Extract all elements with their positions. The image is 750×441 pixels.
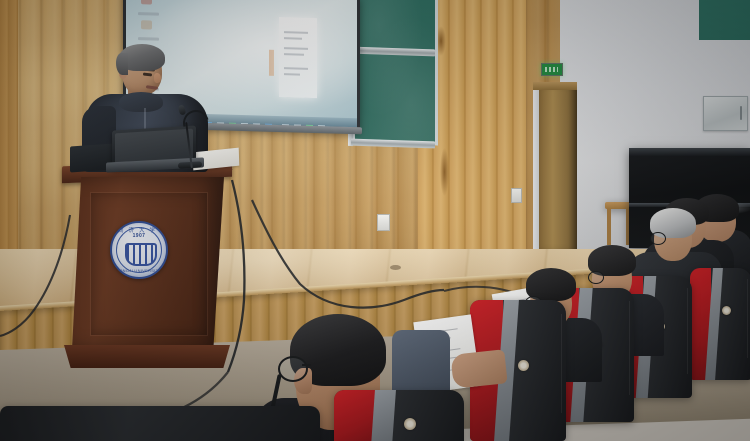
presenter-hair xyxy=(119,44,165,71)
screen-document-window xyxy=(279,17,317,98)
auditorium-seat-row-front[interactable] xyxy=(0,406,320,441)
seat-edge-highlight xyxy=(747,279,749,357)
seal-year: 1907 xyxy=(112,233,166,239)
seat-grey-panel xyxy=(371,390,396,441)
audience-hand xyxy=(450,349,507,388)
wall-access-panel-icon xyxy=(703,96,748,131)
audience-a1-glasses-bridge xyxy=(302,364,311,366)
wood-knot xyxy=(440,148,449,196)
auditorium-seat[interactable] xyxy=(334,390,464,441)
lectern-base xyxy=(64,345,230,368)
exit-sign-icon xyxy=(541,63,563,76)
wall-switch-plate xyxy=(511,188,522,203)
seat-emblem-icon xyxy=(722,306,731,315)
seat-edge-highlight xyxy=(687,288,689,373)
seal-english-text: TONGJI UNIVERSITY xyxy=(112,268,166,273)
auditorium-seat[interactable] xyxy=(690,268,750,380)
audience-a1-glasses-icon xyxy=(278,356,308,382)
access-panel-handle xyxy=(740,106,742,120)
door-lintel xyxy=(533,82,577,90)
exit-sign-text xyxy=(545,67,558,72)
lectern: 同济大学 1907 TONGJI UNIVERSITY xyxy=(64,163,230,368)
university-seal: 同济大学 1907 TONGJI UNIVERSITY xyxy=(110,221,168,279)
lecture-hall-photo: 同济大学 1907 TONGJI UNIVERSITY xyxy=(0,0,750,441)
presenter-nose xyxy=(154,73,161,83)
chalkboard-far-right xyxy=(699,0,750,40)
chalkboard xyxy=(352,0,438,146)
door-jamb xyxy=(533,82,539,254)
stool-seat xyxy=(605,202,632,209)
seal-emblem-mark xyxy=(125,243,157,266)
side-door xyxy=(533,82,577,254)
chalk-residue xyxy=(355,0,435,145)
screen-window-tab xyxy=(269,50,274,76)
seat-emblem-icon xyxy=(518,360,529,371)
piano-top xyxy=(629,148,750,156)
seat-back xyxy=(0,406,320,441)
presenter-collar xyxy=(119,92,163,112)
wall-switch-plate xyxy=(377,214,390,231)
stool-leg xyxy=(607,209,611,245)
piano-stool xyxy=(605,202,632,247)
seat-emblem-icon xyxy=(404,418,416,430)
seat-edge-highlight xyxy=(629,301,631,395)
floor-mark xyxy=(390,265,401,270)
seat-edge-highlight xyxy=(561,314,563,413)
